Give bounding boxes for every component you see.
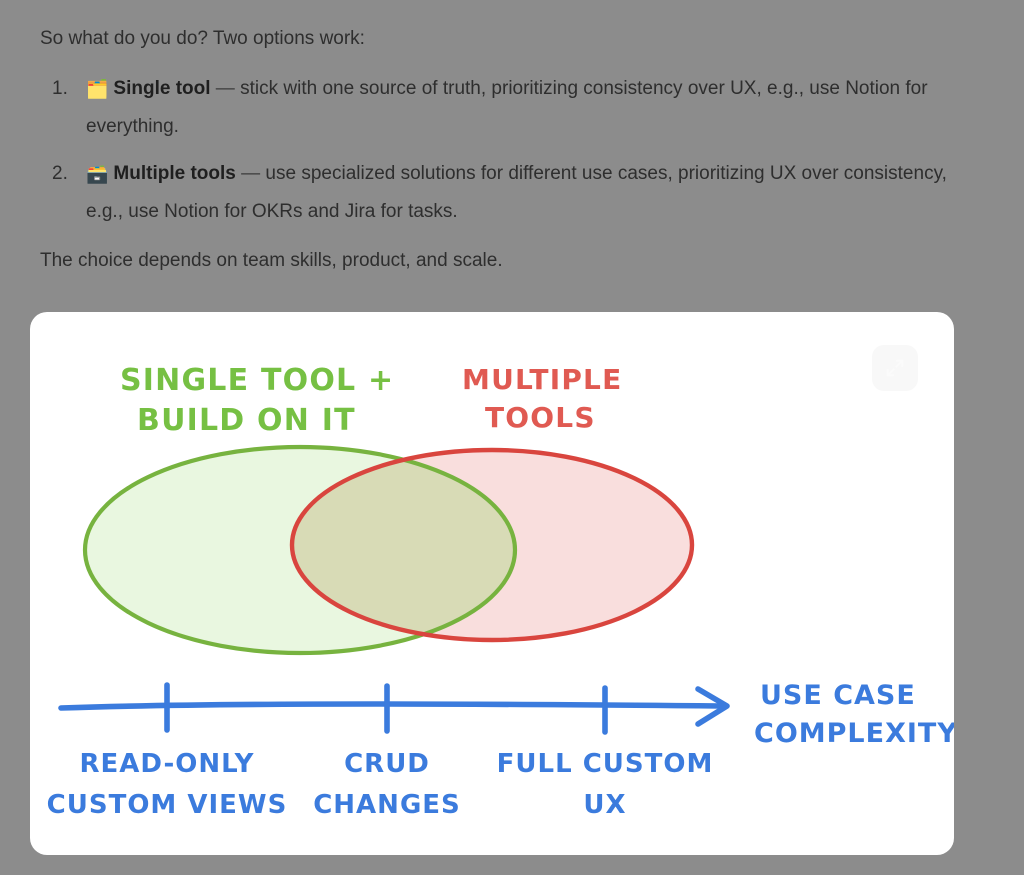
axis-end-label-line1: USE CASE xyxy=(760,680,916,711)
red-set-label-line2: TOOLS xyxy=(485,401,596,434)
intro-paragraph: So what do you do? Two options work: xyxy=(40,0,984,52)
article-body: So what do you do? Two options work: 🗂️S… xyxy=(0,0,1024,274)
diagram-card: SINGLE TOOL + BUILD ON IT MULTIPLE TOOLS… xyxy=(30,312,954,855)
option-dash-1: — xyxy=(211,78,241,99)
closing-paragraph: The choice depends on team skills, produ… xyxy=(40,248,984,274)
list-item-single-tool: 🗂️Single tool — stick with one source of… xyxy=(86,70,976,145)
axis-tick-label-1-line1: READ-ONLY xyxy=(80,749,255,779)
axis-end-label-line2: COMPLEXITY xyxy=(754,718,954,749)
option-title-single-tool: Single tool xyxy=(113,78,210,99)
card-index-dividers-icon: 🗂️ xyxy=(86,79,108,99)
expand-icon xyxy=(884,357,906,379)
list-item-multiple-tools: 🗃️Multiple tools — use specialized solut… xyxy=(86,155,976,230)
option-title-multiple-tools: Multiple tools xyxy=(113,163,235,184)
card-file-box-icon: 🗃️ xyxy=(86,164,108,184)
expand-button[interactable] xyxy=(872,345,918,391)
axis-tick-label-2-line1: CRUD xyxy=(344,749,430,779)
green-set-label-line1: SINGLE TOOL + xyxy=(120,363,394,398)
axis-tick-label-3-line1: FULL CUSTOM xyxy=(497,749,714,779)
venn-axis-diagram: SINGLE TOOL + BUILD ON IT MULTIPLE TOOLS… xyxy=(30,312,954,855)
complexity-axis xyxy=(61,685,727,732)
option-dash-2: — xyxy=(236,163,266,184)
axis-tick-label-3-line2: UX xyxy=(583,790,626,820)
red-set-label-line1: MULTIPLE xyxy=(462,363,622,396)
axis-line xyxy=(61,704,720,708)
options-list: 🗂️Single tool — stick with one source of… xyxy=(40,70,984,230)
axis-tick-label-1-line2: CUSTOM VIEWS xyxy=(47,790,288,820)
axis-tick-label-2-line2: CHANGES xyxy=(313,790,461,820)
green-set-label-line2: BUILD ON IT xyxy=(137,403,356,438)
